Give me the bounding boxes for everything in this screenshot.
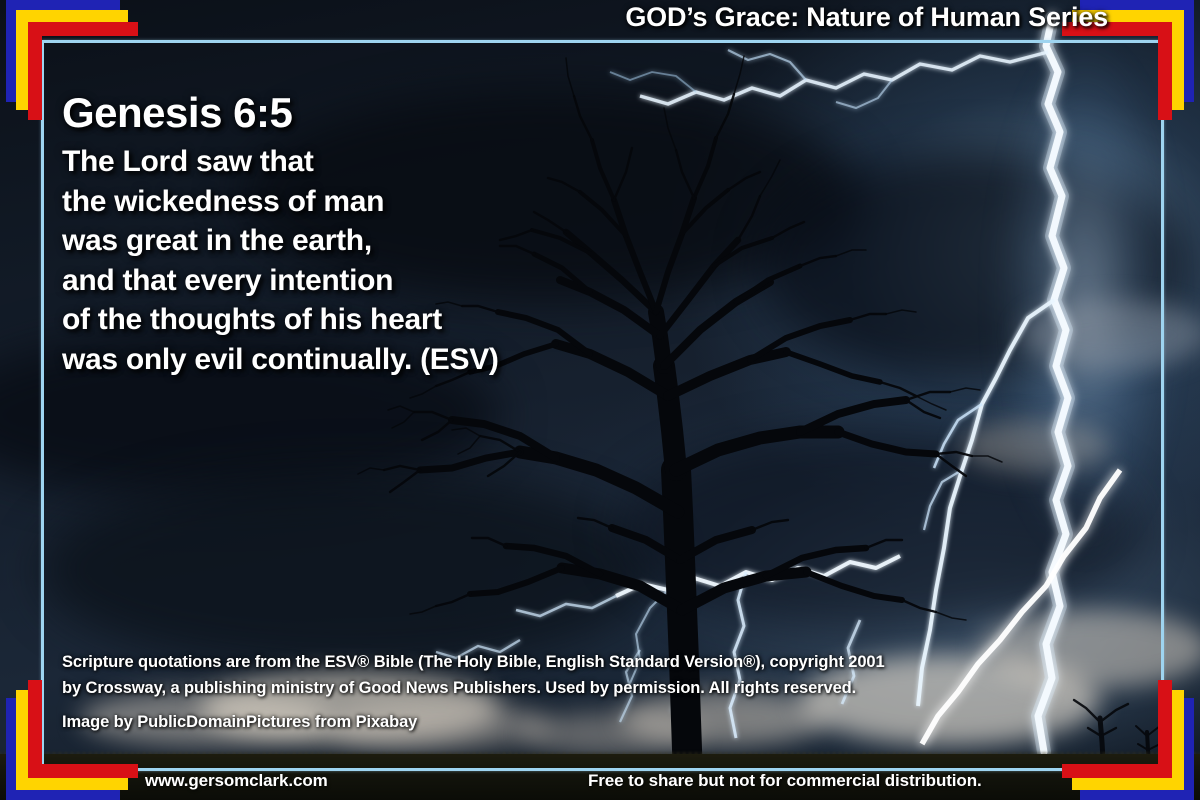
scripture-copyright-line-2: by Crossway, a publishing ministry of Go…	[62, 676, 1102, 702]
verse-line-3: was great in the earth,	[62, 221, 702, 261]
scripture-copyright-line-1: Scripture quotations are from the ESV® B…	[62, 650, 1102, 676]
verse-block: Genesis 6:5 The Lord saw that the wicked…	[62, 92, 702, 380]
series-title: GOD’s Grace: Nature of Human Series	[625, 2, 1108, 33]
credits-block: Scripture quotations are from the ESV® B…	[62, 650, 1102, 736]
scripture-slide: GOD’s Grace: Nature of Human Series Gene…	[0, 0, 1200, 800]
footer-bar: www.gersomclark.com Free to share but no…	[0, 766, 1200, 800]
verse-line-6: was only evil continually. (ESV)	[62, 340, 702, 380]
website-url[interactable]: www.gersomclark.com	[145, 771, 328, 791]
verse-line-4: and that every intention	[62, 261, 702, 301]
verse-line-5: of the thoughts of his heart	[62, 300, 702, 340]
verse-reference: Genesis 6:5	[62, 92, 702, 134]
corner-bar-red	[1062, 22, 1172, 120]
verse-line-1: The Lord saw that	[62, 142, 702, 182]
verse-line-2: the wickedness of man	[62, 182, 702, 222]
image-credit-line: Image by PublicDomainPictures from Pixab…	[62, 710, 1102, 736]
distribution-notice: Free to share but not for commercial dis…	[588, 771, 982, 791]
